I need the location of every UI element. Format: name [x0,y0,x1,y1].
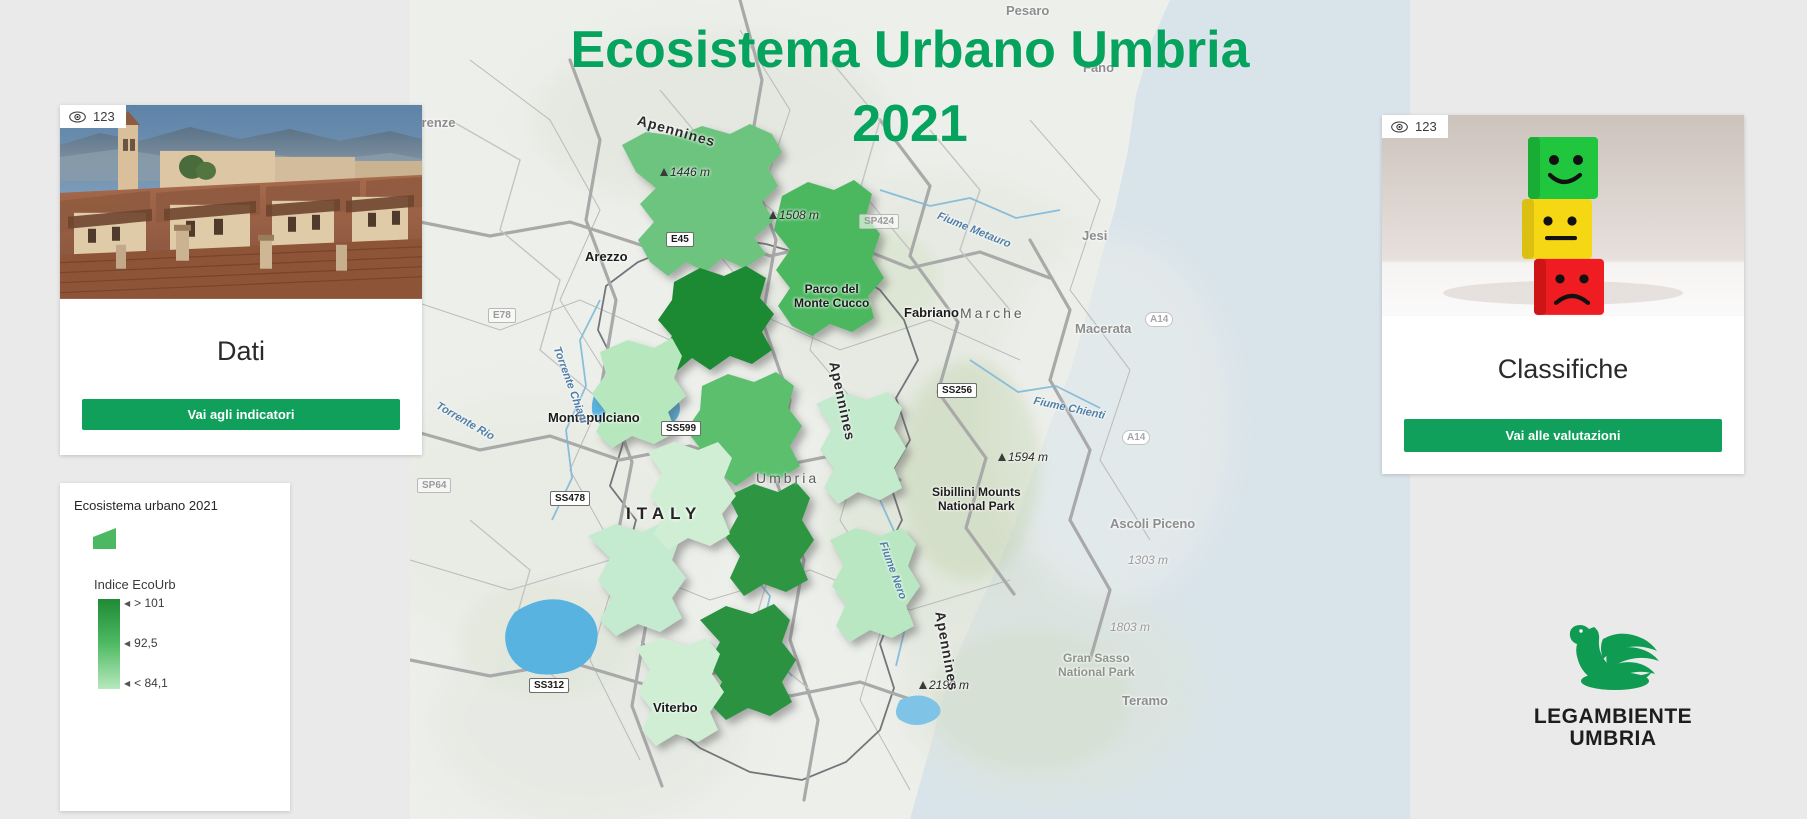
tick-arrow-icon: ◀ [124,599,130,608]
legend-tick-mid: ◀ 92,5 [124,636,158,650]
logo-wordmark: LEGAMBIENTE UMBRIA [1513,706,1713,750]
legend-tick-label: 92,5 [134,636,157,650]
legend-tick-label: > 101 [134,596,164,610]
road-shield-ss312: SS312 [529,678,569,693]
page-title: Ecosistema Urbano Umbria 2021 [410,14,1410,162]
tick-arrow-icon: ◀ [124,679,130,688]
card-dati[interactable]: 123 Dati Vai agli indicatori [60,105,422,455]
smiley-cubes-photo [1382,115,1744,316]
road-shield-e45: E45 [666,232,694,247]
map-legend-panel[interactable]: Ecosistema urbano 2021 Indice EcoUrb ◀ >… [60,483,290,811]
legend-color-ramp: ◀ > 101 ◀ 92,5 ◀ < 84,1 [98,599,268,694]
views-count: 123 [93,109,115,124]
go-to-ratings-button[interactable]: Vai alle valutazioni [1404,419,1722,452]
page-title-year: 2021 [410,88,1410,162]
road-shield-ss256: SS256 [937,383,977,398]
card-classifiche-media: 123 [1382,115,1744,316]
views-count: 123 [1415,119,1437,134]
card-classifiche-title: Classifiche [1382,354,1744,385]
legend-tick-low: ◀ < 84,1 [124,676,168,690]
page-title-main: Ecosistema Urbano Umbria [570,21,1249,79]
umbrian-rooftops-photo [60,105,422,299]
legend-ramp-bar [98,599,120,689]
views-badge-dati: 123 [60,105,126,128]
road-shield-ss478: SS478 [550,491,590,506]
page-root: ITALY Umbria Marche Arezzo Montepulciano… [0,0,1807,819]
legambiente-umbria-logo: LEGAMBIENTE UMBRIA [1513,615,1713,755]
card-dati-media: 123 [60,105,422,299]
polygon-swatch-green-icon [90,525,290,556]
eye-icon [69,111,86,123]
road-shield-ss599: SS599 [661,421,701,436]
road-shield-e78: E78 [488,308,516,323]
card-dati-title: Dati [60,336,422,367]
legend-subtitle: Indice EcoUrb [94,577,290,592]
tick-arrow-icon: ◀ [124,639,130,648]
views-badge-classifiche: 123 [1382,115,1448,138]
swan-icon [1513,615,1713,706]
go-to-indicators-button[interactable]: Vai agli indicatori [82,399,400,430]
road-shield-sp64: SP64 [417,478,451,493]
legend-tick-label: < 84,1 [134,676,168,690]
road-shield-a14-north: A14 [1145,312,1173,327]
road-shield-a14-south: A14 [1122,430,1150,445]
logo-line-2: UMBRIA [1513,728,1713,750]
road-shield-sp424: SP424 [859,214,899,229]
eye-icon [1391,121,1408,133]
card-classifiche[interactable]: 123 Classifiche Vai alle valutazioni [1382,115,1744,474]
legend-title: Ecosistema urbano 2021 [74,498,290,513]
legend-tick-high: ◀ > 101 [124,596,165,610]
logo-line-1: LEGAMBIENTE [1534,705,1692,728]
